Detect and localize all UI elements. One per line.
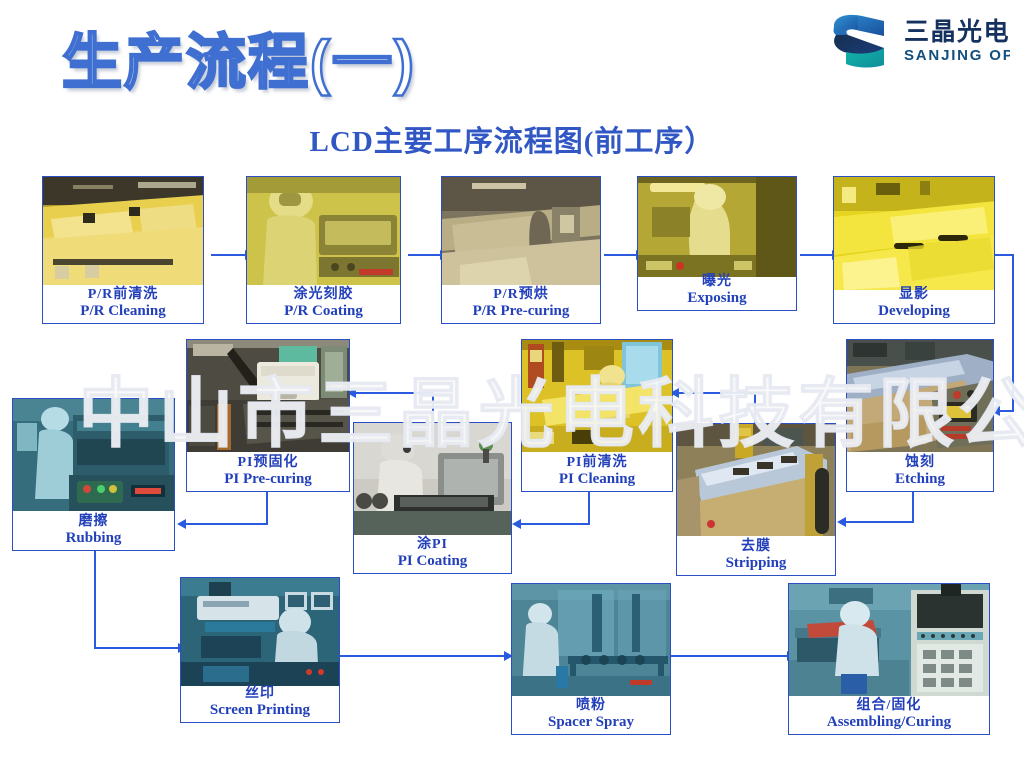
process-step-rubbing[interactable]: 磨擦 Rubbing (12, 398, 175, 551)
logo-brand-zh: 三晶光电 (904, 18, 1010, 46)
process-step-screen-printing[interactable]: 丝印 Screen Printing (180, 577, 340, 723)
caption-rubbing: 磨擦 Rubbing (13, 514, 174, 548)
process-step-pi-precuring[interactable]: PI预固化 PI Pre-curing (186, 339, 350, 492)
connector-9b (356, 392, 434, 394)
process-step-pr-cleaning[interactable]: P/R前清洗 P/R Cleaning (42, 176, 204, 324)
sanjing-opto-logo: 三晶光电 SANJING OPTO (822, 10, 1010, 72)
logo-brand-en: SANJING OPTO (904, 47, 1010, 64)
photo-developing (834, 177, 994, 290)
caption-screen-printing: 丝印 Screen Printing (181, 686, 339, 720)
connector-9a (432, 392, 434, 424)
connector-6b (846, 521, 914, 523)
logo-s-mark (834, 15, 885, 68)
connector-10a (266, 492, 268, 524)
photo-etching (847, 340, 993, 452)
caption-pi-cleaning: PI前清洗 PI Cleaning (522, 455, 672, 489)
diagram-subtitle: LCD主要工序流程图(前工序） (0, 118, 1024, 160)
connector-2 (408, 254, 442, 256)
photo-pi-coating (354, 423, 511, 535)
connector-7b (679, 392, 756, 394)
photo-pi-cleaning (522, 340, 672, 452)
process-step-spacer-spray[interactable]: 喷粉 Spacer Spray (511, 583, 671, 735)
connector-8b (521, 523, 590, 525)
caption-developing: 显影 Developing (834, 287, 994, 321)
connector-5b (1012, 254, 1014, 412)
caption-pr-cleaning: P/R前清洗 P/R Cleaning (43, 287, 203, 321)
connector-3 (604, 254, 638, 256)
connector-8a (588, 492, 590, 524)
photo-pr-coating (247, 177, 400, 285)
caption-pr-precuring: P/R预烘 P/R Pre-curing (442, 287, 600, 321)
photo-pi-precuring (187, 340, 349, 452)
photo-assembling (789, 584, 989, 696)
caption-pi-coating: 涂PI PI Coating (354, 537, 511, 571)
caption-assembling: 组合/固化 Assembling/Curing (789, 698, 989, 732)
caption-spacer-spray: 喷粉 Spacer Spray (512, 698, 670, 732)
process-step-developing[interactable]: 显影 Developing (833, 176, 995, 324)
process-step-etching[interactable]: 蚀刻 Etching (846, 339, 994, 492)
connector-5c (1000, 410, 1014, 412)
connector-7a (754, 392, 756, 424)
connector-4 (800, 254, 834, 256)
photo-spacer-spray (512, 584, 670, 696)
caption-pr-coating: 涂光刻胶 P/R Coating (247, 287, 400, 321)
photo-pr-cleaning (43, 177, 203, 285)
connector-13 (671, 655, 789, 657)
process-step-pi-cleaning[interactable]: PI前清洗 PI Cleaning (521, 339, 673, 492)
connector-11a (94, 551, 96, 648)
arrow-head-10 (177, 519, 186, 529)
photo-stripping (677, 424, 835, 536)
connector-11b (94, 647, 180, 649)
page-title: 生产流程(一) (62, 14, 416, 101)
connector-6a (912, 492, 914, 522)
arrow-head-6 (837, 517, 846, 527)
process-step-exposing[interactable]: 曝光 Exposing (637, 176, 797, 311)
photo-exposing (638, 177, 796, 277)
photo-rubbing (13, 399, 174, 511)
photo-screen-printing (181, 578, 339, 686)
photo-pr-precuring (442, 177, 600, 285)
connector-12 (340, 655, 506, 657)
arrow-head-8 (512, 519, 521, 529)
process-step-stripping[interactable]: 去膜 Stripping (676, 423, 836, 576)
connector-10b (186, 523, 268, 525)
connector-1 (211, 254, 247, 256)
caption-pi-precuring: PI预固化 PI Pre-curing (187, 455, 349, 489)
caption-stripping: 去膜 Stripping (677, 539, 835, 573)
caption-exposing: 曝光 Exposing (638, 274, 796, 308)
slide-canvas: 生产流程(一) LCD主要工序流程图(前工序） 三晶光电 (0, 0, 1024, 768)
process-step-pr-precuring[interactable]: P/R预烘 P/R Pre-curing (441, 176, 601, 324)
connector-5a (994, 254, 1014, 256)
process-step-assembling[interactable]: 组合/固化 Assembling/Curing (788, 583, 990, 735)
process-step-pr-coating[interactable]: 涂光刻胶 P/R Coating (246, 176, 401, 324)
process-step-pi-coating[interactable]: 涂PI PI Coating (353, 422, 512, 574)
caption-etching: 蚀刻 Etching (847, 455, 993, 489)
